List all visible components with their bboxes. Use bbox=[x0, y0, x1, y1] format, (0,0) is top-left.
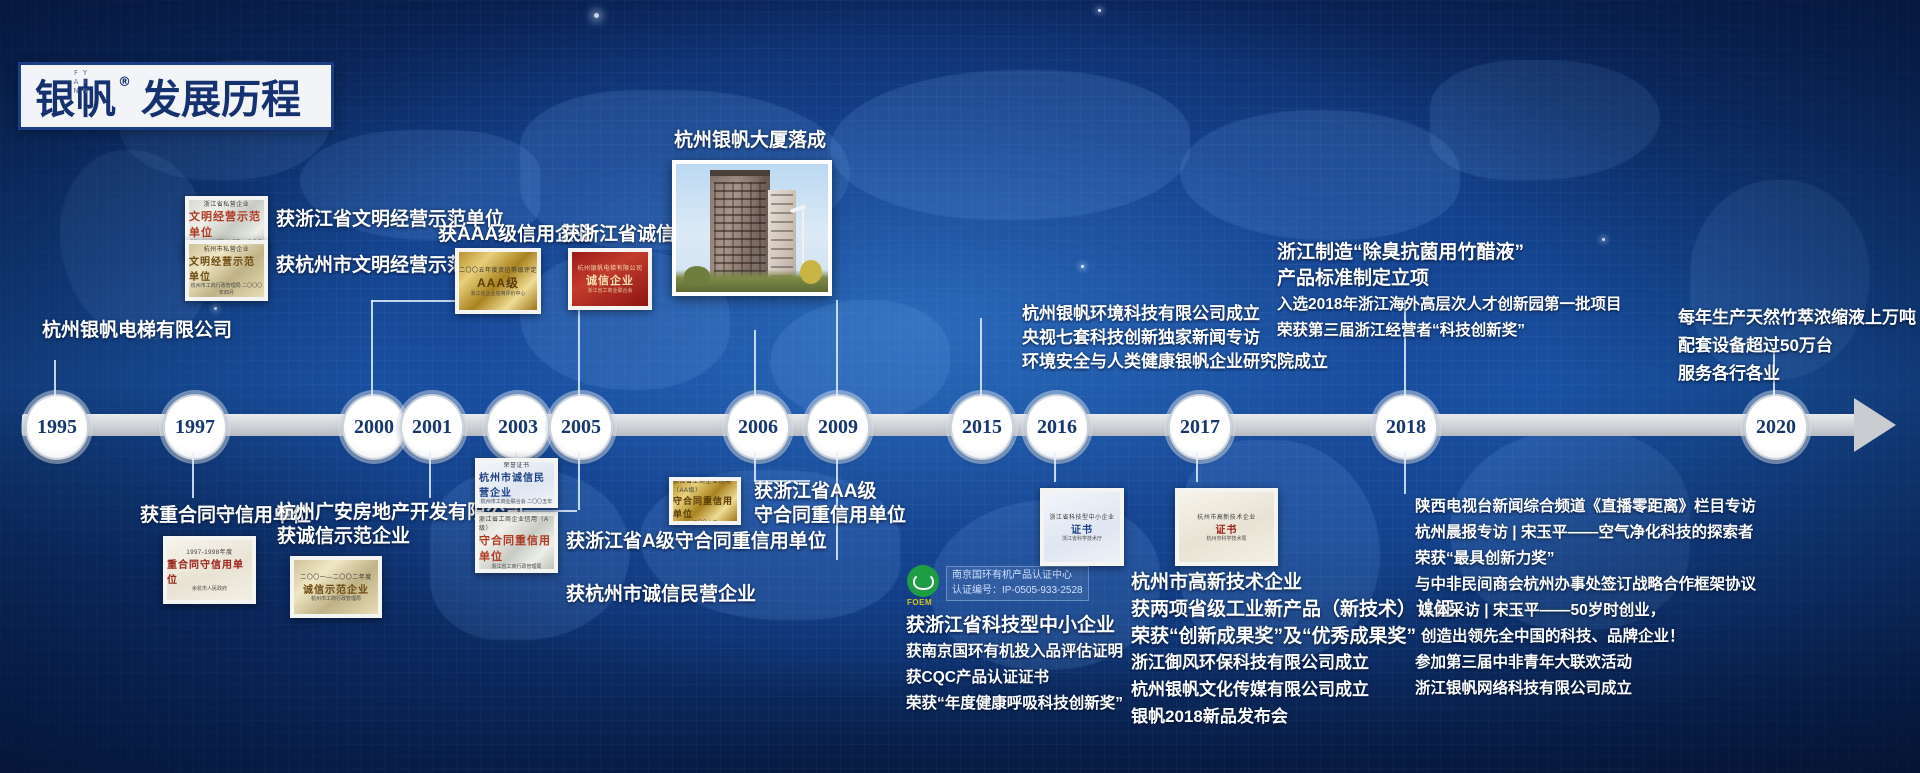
label-2018-below-line3: 荣获“最具创新力奖” bbox=[1415, 548, 1555, 570]
year-marker-2015[interactable]: 2015 bbox=[950, 394, 1014, 460]
certificate-a-level[interactable]: 浙江省工商企业信用（A级） 守合同重信用单位 浙江省工商行政管理局 bbox=[475, 512, 558, 573]
cert-main-text: 守合同重信用单位 bbox=[673, 494, 737, 520]
cert-bottom-text: 杭州市工商行政管理局 二〇〇〇年四月 bbox=[189, 283, 264, 297]
cert-top-text: 浙江省私营企业 bbox=[204, 200, 250, 208]
label-2016-line1: 杭州市高新技术企业 bbox=[1131, 570, 1302, 597]
certificate-chengxin[interactable]: 杭州银帆电梯有限公司 诚信企业 浙江省工商业联合会 bbox=[568, 248, 652, 310]
label-2018-below-line2: 杭州晨报专访 | 宋玉平——空气净化科技的探索者 bbox=[1415, 522, 1753, 544]
cert-main-text: 杭州市诚信民营企业 bbox=[479, 469, 554, 499]
building-photo[interactable] bbox=[672, 160, 832, 296]
year-marker-2009[interactable]: 2009 bbox=[806, 394, 870, 460]
year-marker-2003[interactable]: 2003 bbox=[486, 394, 550, 460]
label-2015-line1: 杭州银帆环境科技有限公司成立 bbox=[1022, 302, 1260, 326]
certificate-sme[interactable]: 浙江省科技型中小企业 证书 浙江省科学技术厅 bbox=[1040, 488, 1124, 566]
timeline-axis bbox=[22, 414, 1866, 436]
label-2018-below-line4: 与中非民间商会杭州办事处签订战略合作框架协议 bbox=[1415, 574, 1756, 596]
label-2016-line6: 银帆2018新品发布会 bbox=[1131, 705, 1288, 729]
certificate-aa-level[interactable]: 浙江省工商企业信用（AA级） 守合同重信用单位 二〇〇六年 bbox=[669, 477, 741, 525]
cert-bottom-text: 浙江省工商行政管理局 bbox=[491, 564, 541, 569]
cert-top-text: 荣誉证书 bbox=[503, 462, 529, 469]
cert-main-text: 重合同守信用单位 bbox=[167, 556, 252, 586]
year-marker-2018[interactable]: 2018 bbox=[1374, 394, 1438, 460]
year-marker-2005[interactable]: 2005 bbox=[549, 394, 613, 460]
building-tower bbox=[710, 176, 770, 280]
organic-caption-line1: 南京国环有机产品认证中心 bbox=[952, 569, 1083, 584]
cert-top-text: 杭州银帆电梯有限公司 bbox=[577, 263, 642, 272]
label-2018-above-line3: 入选2018年浙江海外高层次人才创新园第一批项目 bbox=[1277, 294, 1621, 316]
label-2018-below-line1: 陕西电视台新闻综合频道《直播零距离》栏目专访 bbox=[1415, 496, 1756, 518]
cert-bottom-text: 二〇〇六年 bbox=[692, 520, 717, 522]
cert-main-text: 诚信企业 bbox=[586, 272, 634, 288]
cert-bottom-text: 杭州市科学技术局 bbox=[1206, 536, 1246, 543]
cert-main-text: 文明经营示范单位 bbox=[189, 253, 264, 283]
label-2009-line1: 获浙江省科技型中小企业 bbox=[906, 613, 1115, 640]
building-tree-right bbox=[800, 260, 822, 284]
cert-top-text: 杭州市私营企业 bbox=[204, 244, 250, 253]
label-2009-line3: 获CQC产品认证证书 bbox=[906, 667, 1049, 689]
cert-top-text: 二〇〇一—二〇〇二年度 bbox=[300, 572, 372, 581]
cert-bottom-text: 浙江省科学技术厅 bbox=[1062, 536, 1102, 543]
certificate-aaa[interactable]: 二〇〇五年度资信等级评定 AAA级 浙江省企业信用评价中心 bbox=[455, 248, 541, 314]
year-marker-1995[interactable]: 1995 bbox=[25, 394, 89, 460]
page-title-text: 发展历程 bbox=[141, 67, 301, 125]
label-2015-line2: 央视七套科技创新独家新闻专访 bbox=[1022, 326, 1260, 350]
year-marker-2000[interactable]: 2000 bbox=[342, 394, 406, 460]
label-2018-above-line1: 浙江制造“除臭抗菌用竹醋液” bbox=[1277, 240, 1524, 267]
certificate-hz-wenming[interactable]: 杭州市私营企业 文明经营示范单位 杭州市工商行政管理局 二〇〇〇年四月 bbox=[185, 240, 268, 301]
cert-bottom-text: 杭州市工商业联合会 二〇〇五年 bbox=[481, 499, 552, 504]
label-2018-below-line5: 媒体采访 | 宋玉平——50岁时创业， bbox=[1418, 600, 1665, 622]
label-2020-line3: 服务各行各业 bbox=[1678, 362, 1780, 386]
organic-code: FOEM bbox=[907, 598, 943, 607]
year-marker-2016[interactable]: 2016 bbox=[1025, 394, 1089, 460]
building-tree-left bbox=[684, 266, 710, 286]
organic-certification-logo: FOEM bbox=[907, 565, 943, 601]
label-2003: 获浙江省A级守合同重信用单位 bbox=[566, 529, 827, 556]
timeline-arrow-icon bbox=[1854, 398, 1896, 452]
brand-pinyin: YIN FAN bbox=[77, 69, 89, 125]
year-marker-2020[interactable]: 2020 bbox=[1744, 394, 1808, 460]
cert-top-text: 浙江省工商企业信用（AA级） bbox=[673, 481, 737, 494]
label-1995: 杭州银帆电梯有限公司 bbox=[42, 318, 232, 345]
label-2016-line2: 获两项省级工业新产品（新技术）认证 bbox=[1131, 597, 1454, 624]
label-2001-line2: 获诚信示范企业 bbox=[277, 524, 410, 551]
year-marker-1997[interactable]: 1997 bbox=[163, 394, 227, 460]
label-2018-below-line6: 创造出领先全中国的科技、品牌企业！ bbox=[1421, 626, 1685, 648]
year-marker-2001[interactable]: 2001 bbox=[400, 394, 464, 460]
cert-top-text: 二〇〇五年度资信等级评定 bbox=[459, 265, 537, 274]
label-2018-below-line7: 参加第三届中非青年大联欢活动 bbox=[1415, 652, 1632, 674]
label-2006-line2: 守合同重信用单位 bbox=[754, 503, 906, 530]
organic-certification-caption: 南京国环有机产品认证中心 认证编号：IP-0505-933-2528 bbox=[946, 566, 1089, 601]
label-2015-line3: 环境安全与人类健康银帆企业研究院成立 bbox=[1022, 350, 1328, 374]
leaf-icon bbox=[907, 565, 939, 597]
label-2009-line2: 获南京国环有机投入品评估证明 bbox=[906, 641, 1123, 663]
label-2018-above-line4: 荣获第三届浙江经营者“科技创新奖” bbox=[1277, 320, 1525, 342]
label-2006-line1: 获浙江省AA级 bbox=[754, 479, 876, 506]
label-2016-line5: 杭州银帆文化传媒有限公司成立 bbox=[1131, 678, 1369, 702]
cert-main-text: 证书 bbox=[1216, 521, 1238, 536]
building-annex bbox=[768, 190, 796, 280]
certificate-zhonghetong[interactable]: 1997-1998年度 重合同守信用单位 余杭市人民政府 bbox=[163, 536, 256, 604]
year-marker-2006[interactable]: 2006 bbox=[726, 394, 790, 460]
registered-mark-icon: ® bbox=[118, 75, 132, 90]
certificate-honor[interactable]: 荣誉证书 杭州市诚信民营企业 杭州市工商业联合会 二〇〇五年 bbox=[475, 458, 558, 508]
cert-top-text: 浙江省工商企业信用（A级） bbox=[479, 516, 554, 532]
label-2020-line1: 每年生产天然竹萃浓缩液上万吨 bbox=[1678, 306, 1916, 330]
certificate-hightech[interactable]: 杭州市高新技术企业 证书 杭州市科学技术局 bbox=[1175, 488, 1278, 566]
label-2009-line4: 荣获“年度健康呼吸科技创新奖” bbox=[906, 693, 1123, 715]
year-marker-2017[interactable]: 2017 bbox=[1168, 394, 1232, 460]
label-2016-line4: 浙江御风环保科技有限公司成立 bbox=[1131, 651, 1369, 675]
cert-main-text: 文明经营示范单位 bbox=[189, 208, 264, 240]
label-2005-hangzhou: 获杭州市诚信民营企业 bbox=[566, 582, 756, 609]
organic-caption-line2: 认证编号：IP-0505-933-2528 bbox=[952, 584, 1083, 599]
label-2018-below-line8: 浙江银帆网络科技有限公司成立 bbox=[1415, 678, 1632, 700]
page-title: 银帆 YIN FAN ® 发展历程 bbox=[18, 62, 334, 130]
label-2016-line3: 荣获“创新成果奖”及“优秀成果奖” bbox=[1131, 624, 1416, 651]
cert-top-text: 浙江省科技型中小企业 bbox=[1049, 512, 1114, 521]
cert-bottom-text: 浙江省工商业联合会 bbox=[587, 288, 632, 295]
cert-main-text: 证书 bbox=[1071, 521, 1093, 536]
label-2020-line2: 配套设备超过50万台 bbox=[1678, 334, 1833, 358]
cert-main-text: 守合同重信用单位 bbox=[479, 532, 554, 564]
cert-bottom-text: 浙江省企业信用评价中心 bbox=[470, 291, 525, 298]
cert-bottom-text: 余杭市人民政府 bbox=[192, 586, 227, 593]
label-2018-above-line2: 产品标准制定立项 bbox=[1277, 266, 1429, 293]
cert-top-text: 杭州市高新技术企业 bbox=[1197, 512, 1256, 521]
cert-main-text: AAA级 bbox=[477, 274, 519, 291]
certificate-chengxin-shifan[interactable]: 二〇〇一—二〇〇二年度 诚信示范企业 杭州市工商行政管理局 bbox=[290, 556, 382, 618]
brand-logo: 银帆 YIN FAN ® bbox=[35, 67, 131, 125]
cert-top-text: 1997-1998年度 bbox=[186, 547, 232, 556]
label-2009-building: 杭州银帆大厦落成 bbox=[674, 128, 826, 155]
cert-main-text: 诚信示范企业 bbox=[303, 581, 369, 596]
building-photo-image bbox=[676, 164, 828, 292]
cert-bottom-text: 杭州市工商行政管理局 bbox=[311, 596, 361, 603]
